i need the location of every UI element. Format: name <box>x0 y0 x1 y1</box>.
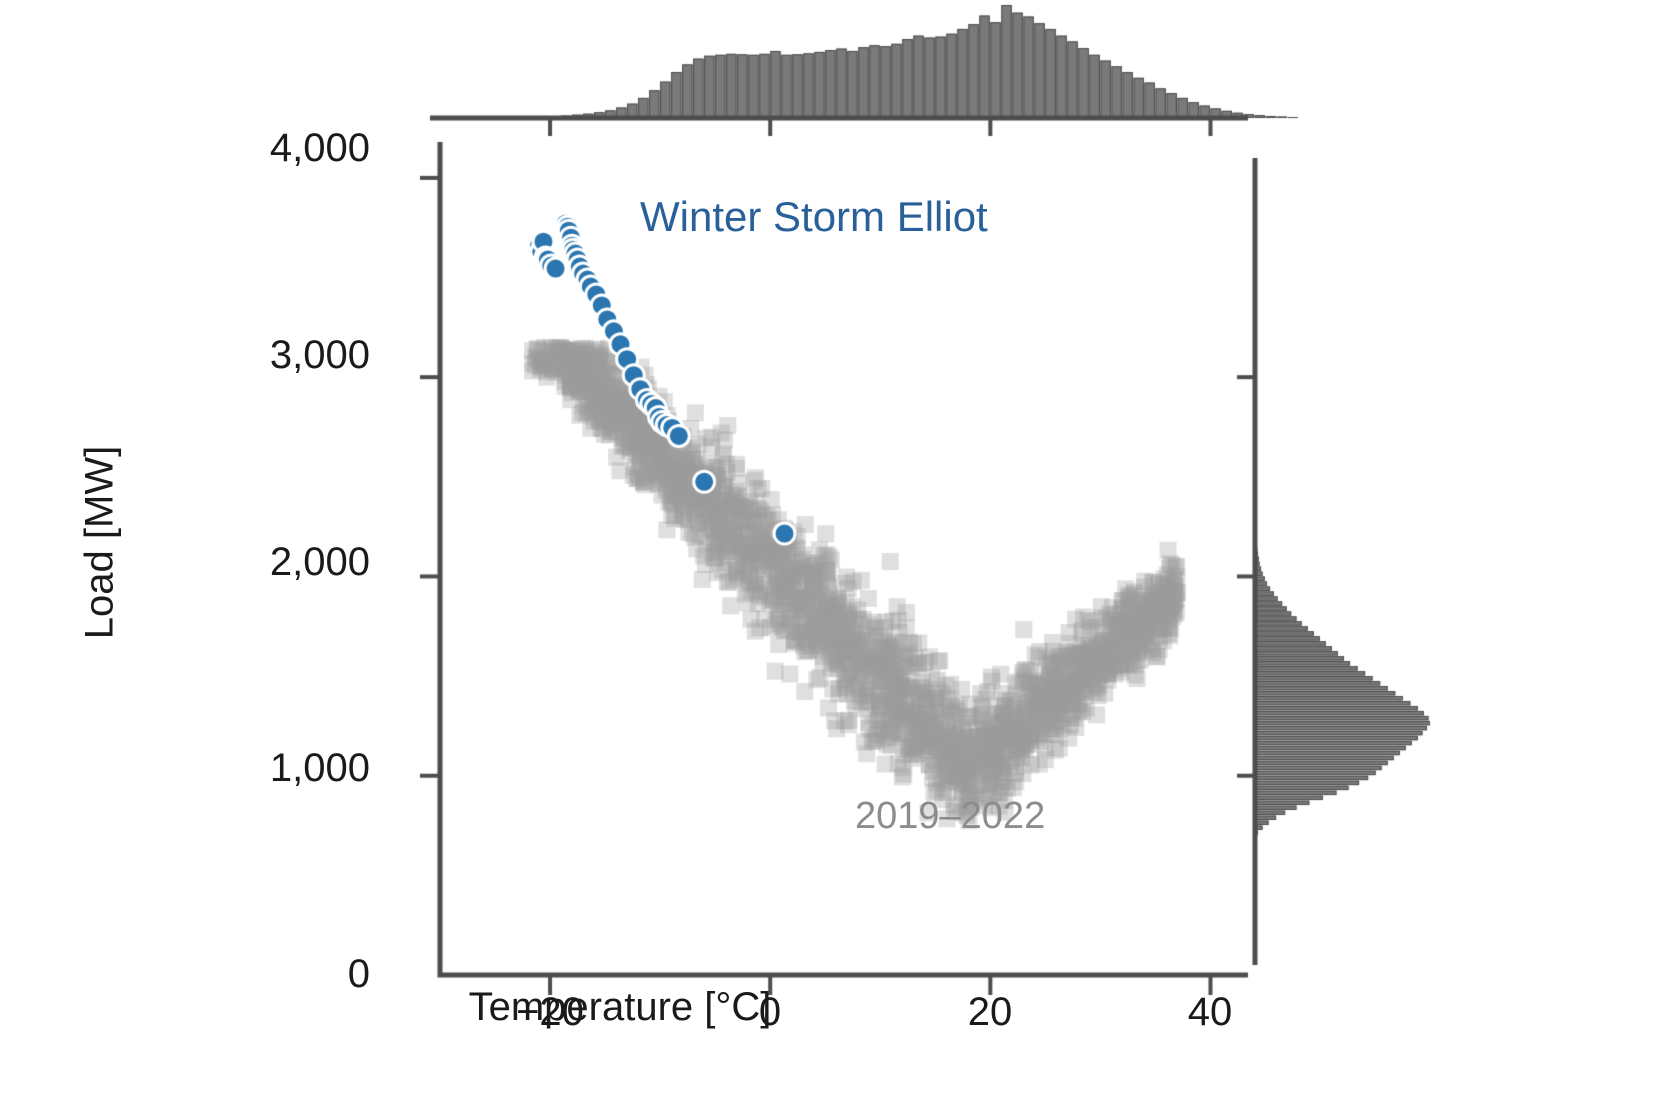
annotation-baseline-years: 2019–2022 <box>855 795 1045 838</box>
y-axis-title: Load [MW] <box>78 333 123 753</box>
annotation-winter-storm-elliot: Winter Storm Elliot <box>640 193 988 241</box>
chart-figure: 4,000 3,000 2,000 1,000 0 −20 0 20 40 Te… <box>0 0 1680 1120</box>
x-axis-title: Temperature [°C] <box>0 985 1240 1030</box>
y-tick-label-1000: 1,000 <box>170 746 370 791</box>
y-tick-label-2000: 2,000 <box>170 540 370 585</box>
y-tick-label-4000: 4,000 <box>170 126 370 171</box>
y-tick-label-3000: 3,000 <box>170 333 370 378</box>
